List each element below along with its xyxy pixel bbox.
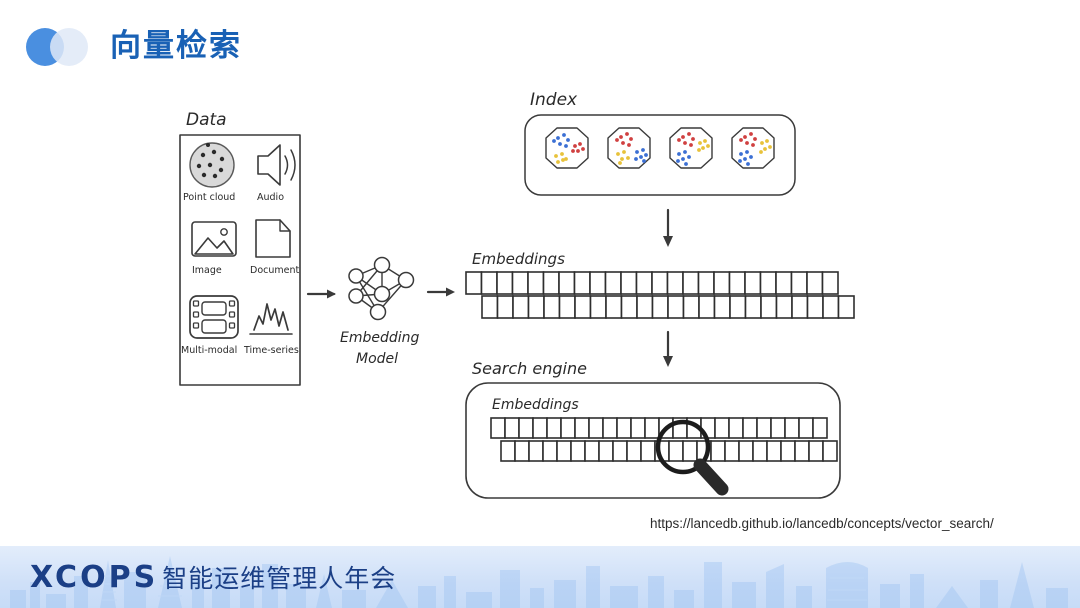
data-panel-label: Data [186,110,227,130]
search-engine-label: Search engine [472,359,587,378]
embeddings-to-search-arrow [663,332,673,367]
audio-speaker-icon [258,145,295,185]
index-cell [608,128,650,168]
footer-bar: XCOPS 智能运维管理人年会 [0,546,1080,608]
index-to-embeddings-arrow [663,210,673,247]
point-cloud-icon [190,143,234,187]
vector-search-diagram: .hw{font-family:"DejaVu Sans","Liberatio… [0,80,1080,540]
data-item-label-point-cloud: Point cloud [183,192,235,203]
index-cell [670,128,712,168]
footer-brand-name: XCOPS [30,560,158,595]
search-engine-embeddings-label: Embeddings [492,397,579,413]
model-label-line1: Embedding [340,330,420,346]
data-to-model-arrow [308,290,336,299]
index-panel: Index [525,90,795,195]
embeddings-row-1 [466,272,838,294]
footer-brand: XCOPS 智能运维管理人年会 [30,559,396,595]
logo-circle-ghost-icon [50,28,88,66]
data-item-label-time-series: Time-series [243,345,299,356]
neural-network-icon [349,258,414,320]
data-item-label-multi-modal: Multi-modal [181,345,237,356]
embeddings-block: Embeddings [466,250,854,318]
image-picture-icon [192,222,236,256]
line-chart-icon [250,304,292,334]
data-item-label-audio: Audio [257,192,284,203]
embedding-model: Embedding Model [340,258,420,368]
page-title: 向量检索 [110,26,242,66]
data-panel: Data Point cloud Audio [180,110,300,385]
embeddings-label: Embeddings [472,250,565,268]
embeddings-row-2 [482,296,854,318]
index-cell [546,128,588,168]
slide-root: 向量检索 .hw{font-family:"DejaVu Sans","Libe… [0,0,1080,608]
index-cell [732,128,774,168]
footer-subtitle: 智能运维管理人年会 [162,559,396,595]
search-embeddings-row-2 [501,441,837,461]
model-label-line2: Model [356,351,398,367]
data-item-label-document: Document [250,265,299,276]
film-strip-icon [190,296,238,338]
index-label: Index [530,90,578,110]
model-to-embeddings-arrow [428,288,455,297]
data-item-label-image: Image [192,265,222,276]
document-page-icon [256,220,290,257]
source-url[interactable]: https://lancedb.github.io/lancedb/concep… [650,516,994,531]
search-engine-panel: Search engine Embeddings [466,359,840,498]
logo [24,24,96,68]
